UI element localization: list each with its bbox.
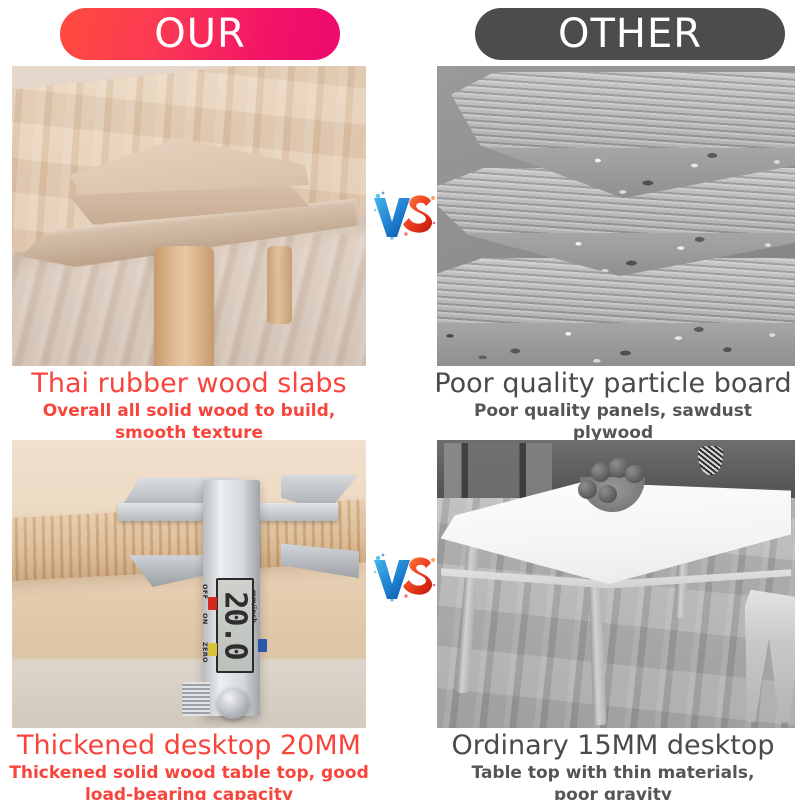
other-material-caption: Poor quality particle board Poor quality… xyxy=(428,368,798,443)
our-badge-label: OUR xyxy=(154,14,246,54)
vs-letter-v xyxy=(374,554,410,602)
other-thickness-caption: Ordinary 15MM desktop Table top with thi… xyxy=(428,730,798,800)
caption-subtitle-line1: Overall all solid wood to build, xyxy=(6,401,372,421)
board-surface xyxy=(451,72,795,150)
other-badge-label: OTHER xyxy=(558,14,702,54)
caliper-unit-button xyxy=(258,639,267,652)
fruit-item xyxy=(578,480,597,498)
table-leg-near xyxy=(154,246,214,366)
other-thickness-photo xyxy=(437,440,795,728)
under-table-shadow xyxy=(12,567,366,665)
caption-subtitle-line1: Table top with thin materials, xyxy=(428,763,798,783)
caliper-reading: 20.0 xyxy=(218,592,253,660)
caliper-power-button xyxy=(208,597,217,610)
other-badge: OTHER xyxy=(475,8,785,60)
caliper-lcd-screen: 20.0 xyxy=(216,578,255,673)
caliper-on-label: ON xyxy=(201,613,209,625)
our-thickness-photo: 20.0 OFF ON ZERO mm/inch xyxy=(12,440,366,728)
vs-badge-thickness xyxy=(370,552,436,602)
caliper-thumb-roller xyxy=(182,682,210,717)
other-material-photo xyxy=(437,66,795,366)
our-material-caption: Thai rubber wood slabs Overall all solid… xyxy=(6,368,372,443)
caption-subtitle-line2: poor gravity xyxy=(428,785,798,800)
caption-subtitle-line1: Poor quality panels, sawdust xyxy=(428,401,798,421)
white-table-room-scene xyxy=(437,440,795,728)
fruit-item xyxy=(625,465,644,483)
comparison-infographic: OUR OTHER xyxy=(0,0,800,800)
our-thickness-caption: Thickened desktop 20MM Thickened solid w… xyxy=(6,730,372,800)
vs-badge-material xyxy=(370,190,436,240)
table-leg-far xyxy=(267,246,292,324)
particle-board-scene xyxy=(437,66,795,366)
fruit-item xyxy=(598,485,617,503)
caption-title: Poor quality particle board xyxy=(428,368,798,399)
our-badge: OUR xyxy=(60,8,340,60)
caption-title: Thai rubber wood slabs xyxy=(6,368,372,399)
caliper-unit-label: mm/inch xyxy=(250,590,258,623)
caliper-scene: 20.0 OFF ON ZERO mm/inch xyxy=(12,440,366,728)
caption-title: Ordinary 15MM desktop xyxy=(428,730,798,761)
caliper-zero-button xyxy=(208,643,217,656)
vs-letter-v xyxy=(374,192,410,240)
caption-title: Thickened desktop 20MM xyxy=(6,730,372,761)
board-chip-edge xyxy=(437,323,795,366)
caption-subtitle-line2: load-bearing capacity xyxy=(6,785,372,800)
our-material-photo xyxy=(12,66,366,366)
caption-subtitle-line1: Thickened solid wood table top, good xyxy=(6,763,372,783)
rubber-wood-scene xyxy=(12,66,366,366)
